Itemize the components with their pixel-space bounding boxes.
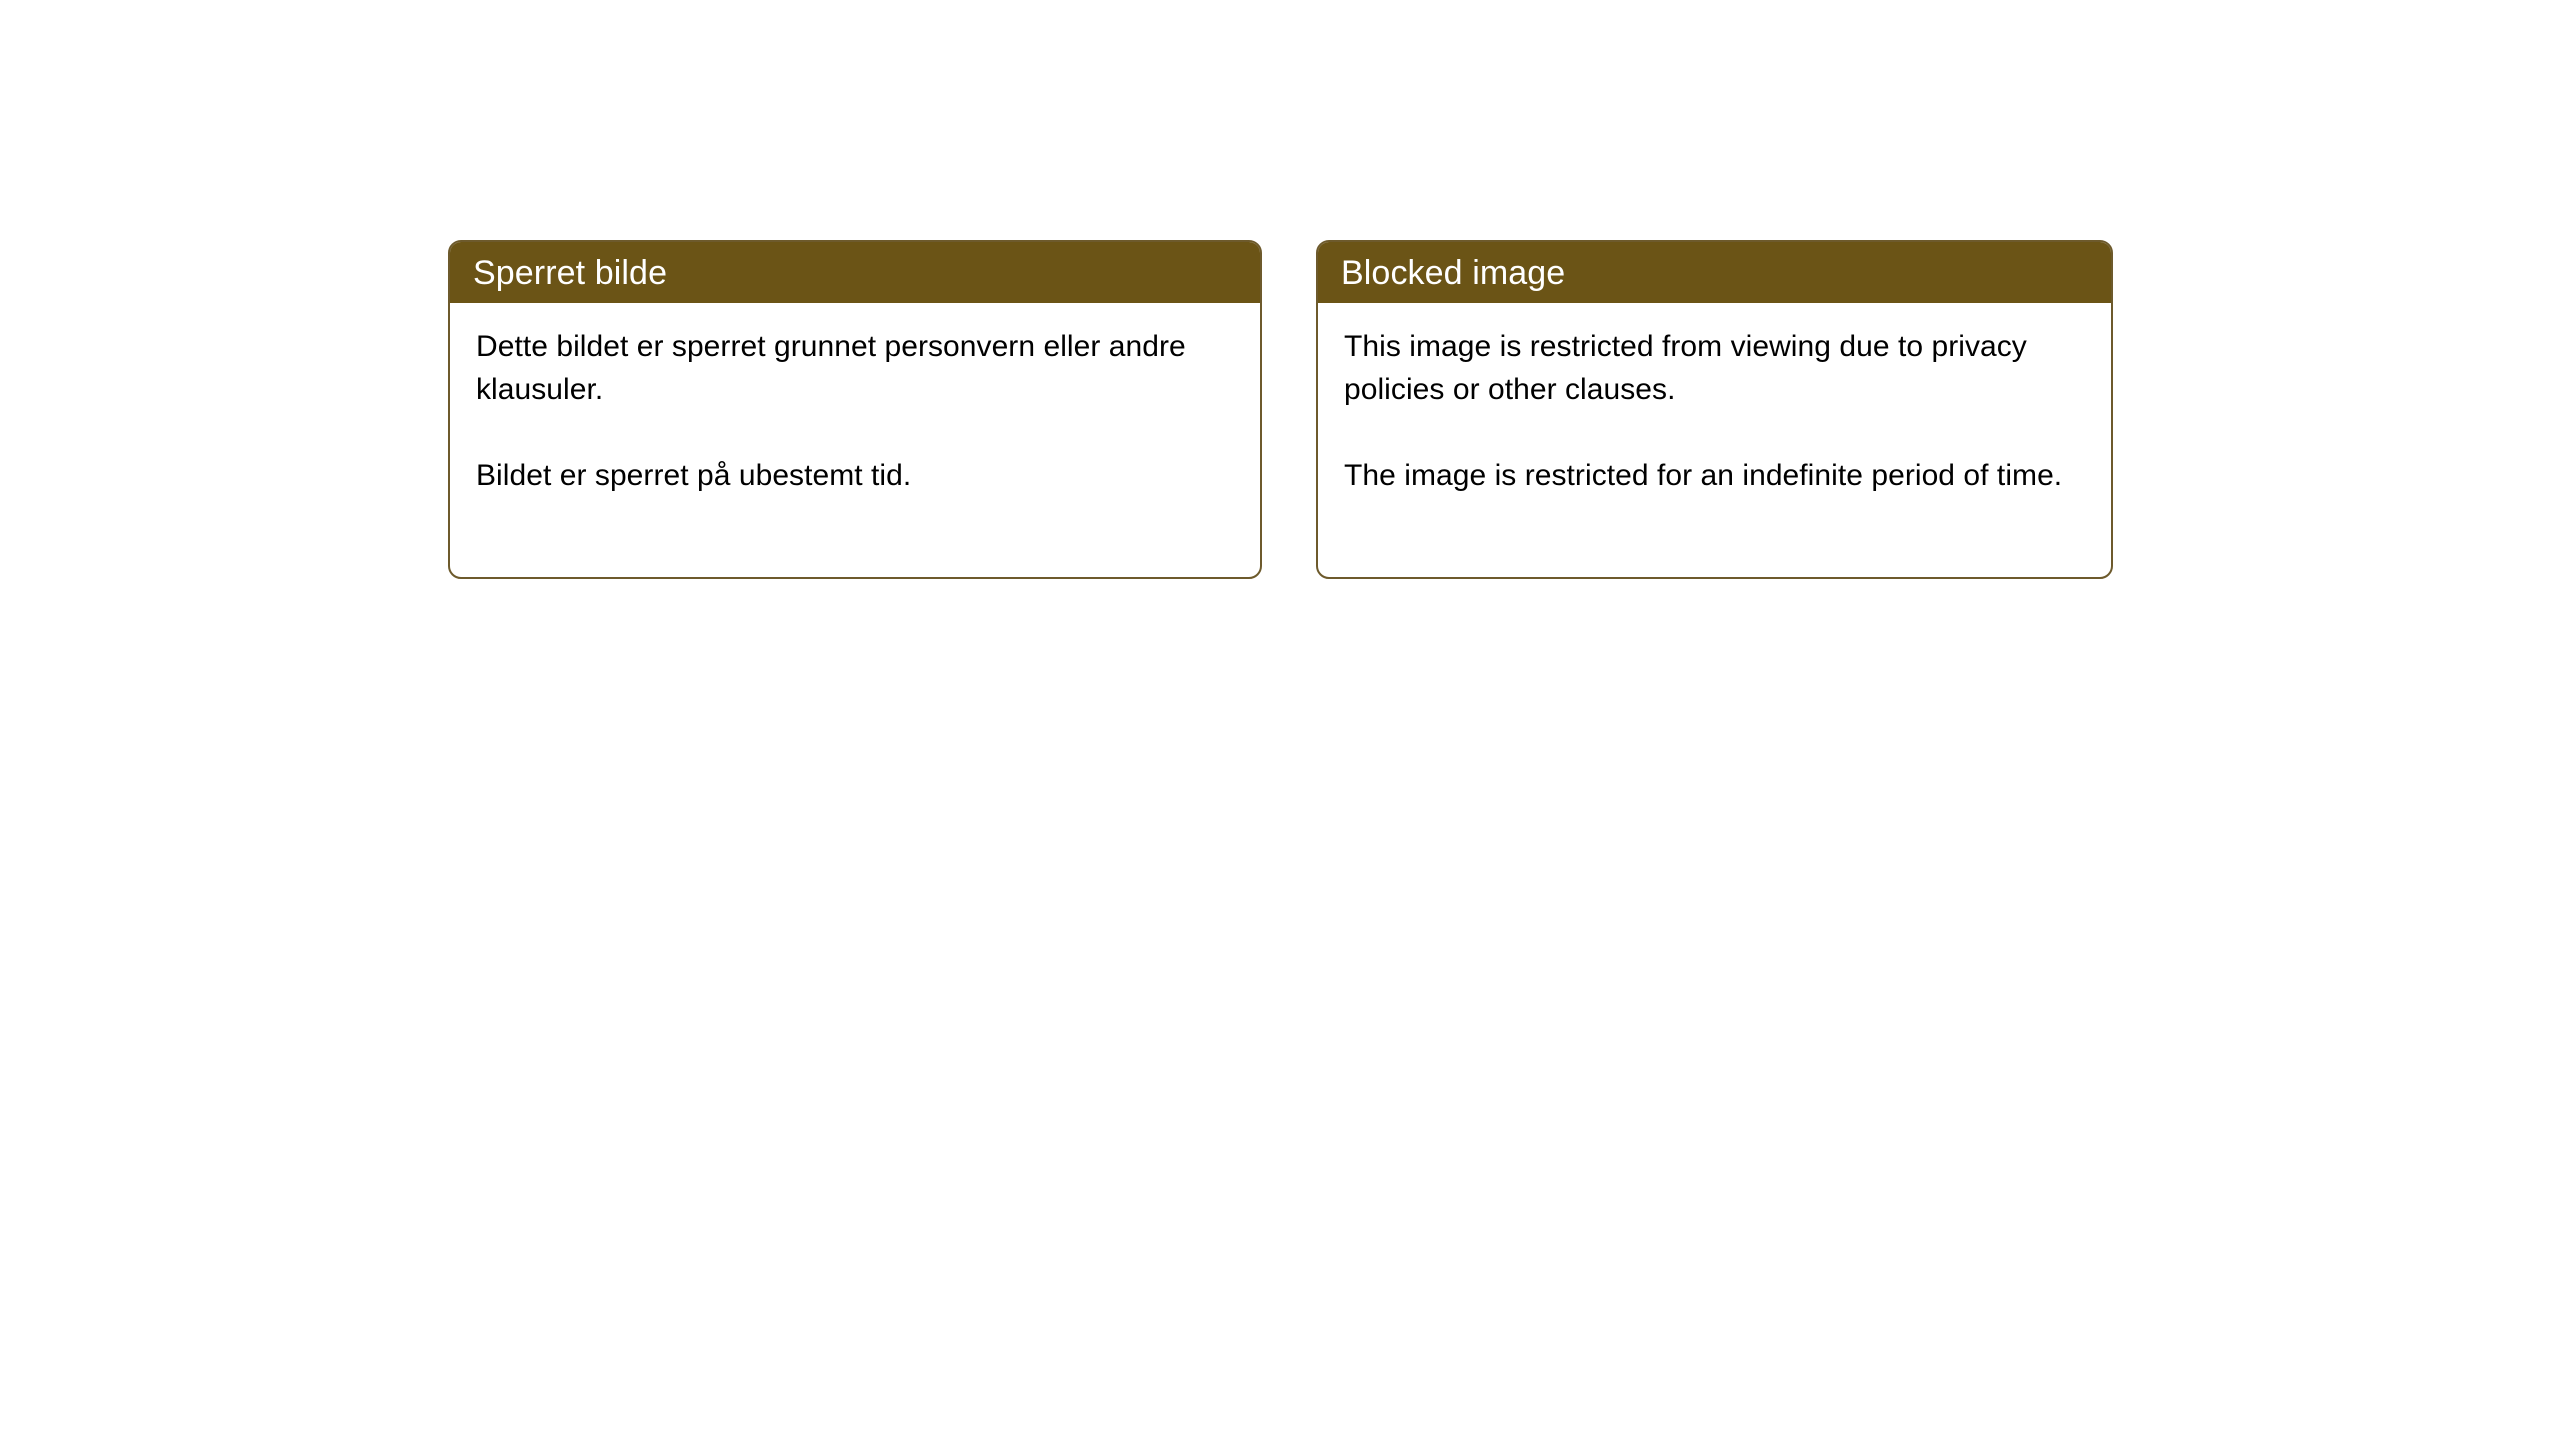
card-body-norwegian: Dette bildet er sperret grunnet personve… xyxy=(450,303,1260,497)
card-body-english: This image is restricted from viewing du… xyxy=(1318,303,2111,497)
card-paragraph-duration-norwegian: Bildet er sperret på ubestemt tid. xyxy=(476,454,1234,497)
card-header-english: Blocked image xyxy=(1318,242,2111,303)
blocked-image-card-norwegian: Sperret bilde Dette bildet er sperret gr… xyxy=(448,240,1262,579)
card-paragraph-duration-english: The image is restricted for an indefinit… xyxy=(1344,454,2085,497)
card-title-norwegian: Sperret bilde xyxy=(473,256,667,290)
card-title-english: Blocked image xyxy=(1341,256,1565,290)
card-paragraph-reason-norwegian: Dette bildet er sperret grunnet personve… xyxy=(476,325,1234,411)
card-paragraph-reason-english: This image is restricted from viewing du… xyxy=(1344,325,2085,411)
card-header-norwegian: Sperret bilde xyxy=(450,242,1260,303)
blocked-image-card-english: Blocked image This image is restricted f… xyxy=(1316,240,2113,579)
page-canvas: Sperret bilde Dette bildet er sperret gr… xyxy=(0,0,2560,1440)
